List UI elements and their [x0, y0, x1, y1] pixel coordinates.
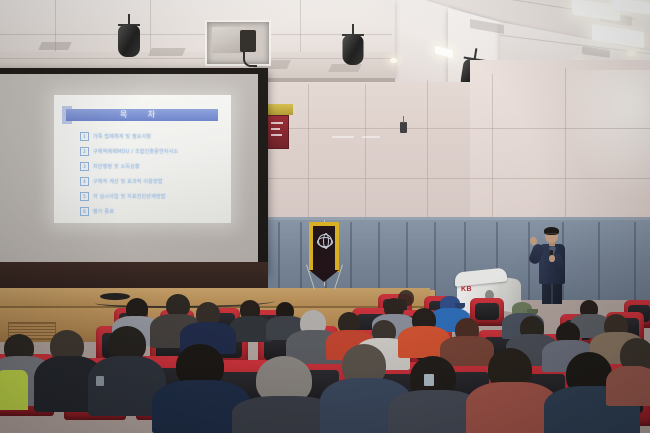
- projected-slide: 목 차 1 가족 법제체계 및 필요사항 2 구체적예제MOU / 조합인출용연…: [54, 95, 231, 223]
- slide-item-text: 치안행정 및 소득상황: [93, 163, 140, 170]
- organization-banner: [303, 218, 345, 290]
- ceiling-seam: [0, 58, 392, 59]
- slide-agenda-item: 3 치안행정 및 소득상황: [80, 159, 222, 174]
- photo-scene: 목 차 1 가족 법제체계 및 필요사항 2 구체적예제MOU / 조합인출용연…: [0, 0, 650, 433]
- slide-item-text: 평가 종료: [93, 208, 114, 215]
- ceiling-seam: [150, 0, 151, 52]
- ceiling-seam: [300, 0, 301, 52]
- slide-item-number: 6: [80, 207, 89, 216]
- presenter-mic-hand: [549, 255, 555, 262]
- projection-screen-frame: 목 차 1 가족 법제체계 및 필요사항 2 구체적예제MOU / 조합인출용연…: [0, 68, 268, 274]
- slide-item-number: 5: [80, 192, 89, 201]
- slide-title: 목 차: [66, 108, 218, 121]
- projector-cable: [243, 49, 257, 67]
- slide-agenda-item: 5 각 실시사업 및 지표진단관계방법: [80, 189, 222, 204]
- stage-spotlight: [336, 24, 370, 76]
- wall-seam: [565, 68, 566, 220]
- ceiling-seam: [0, 34, 392, 35]
- wall-seam: [258, 178, 650, 179]
- wall-marker: [362, 136, 380, 138]
- audience-phone: [96, 376, 104, 386]
- slide-item-text: 구체적 계산 및 효과적 이용방법: [93, 178, 163, 185]
- slide-agenda-list: 1 가족 법제체계 및 필요사항 2 구체적예제MOU / 조합인출용연자사소 …: [80, 129, 222, 219]
- wall-marker: [332, 136, 354, 138]
- projection-screen-surface: 목 차 1 가족 법제체계 및 필요사항 2 구체적예제MOU / 조합인출용연…: [0, 74, 258, 262]
- slide-item-text: 구체적예제MOU / 조합인출용연자사소: [93, 148, 178, 155]
- fire-equipment-box: [267, 115, 289, 149]
- audience-shoulders: [606, 366, 650, 406]
- audience-bag: [0, 370, 28, 410]
- slide-item-text: 각 실시사업 및 지표진단관계방법: [93, 193, 166, 200]
- banner-emblem-icon: [318, 234, 332, 248]
- stage-spotlight: [112, 14, 146, 66]
- glasses-icon: [546, 233, 557, 237]
- wall-seam: [365, 84, 366, 220]
- wall-seam: [427, 80, 428, 220]
- downlight-icon: [627, 50, 636, 56]
- slide-agenda-item: 2 구체적예제MOU / 조합인출용연자사소: [80, 144, 222, 159]
- slide-agenda-item: 6 평가 종료: [80, 204, 222, 219]
- slide-item-number: 1: [80, 132, 89, 141]
- wall-seam: [492, 74, 493, 220]
- slide-item-text: 가족 법제체계 및 필요사항: [93, 133, 151, 140]
- downlight-icon: [390, 58, 397, 63]
- audience-area: [0, 282, 650, 433]
- wall-seam: [258, 128, 650, 129]
- slide-item-number: 3: [80, 162, 89, 171]
- slide-item-number: 4: [80, 177, 89, 186]
- ceiling-vent: [38, 42, 72, 50]
- slide-item-number: 2: [80, 147, 89, 156]
- wall-seam: [308, 84, 309, 220]
- slide-agenda-item: 4 구체적 계산 및 효과적 이용방법: [80, 174, 222, 189]
- audience-phone: [424, 374, 434, 386]
- wall-mounted-device: [400, 122, 407, 133]
- audience-head: [398, 290, 414, 306]
- ceiling-vent: [148, 48, 186, 56]
- wall-light-glow: [560, 70, 650, 200]
- slide-agenda-item: 1 가족 법제체계 및 필요사항: [80, 129, 222, 144]
